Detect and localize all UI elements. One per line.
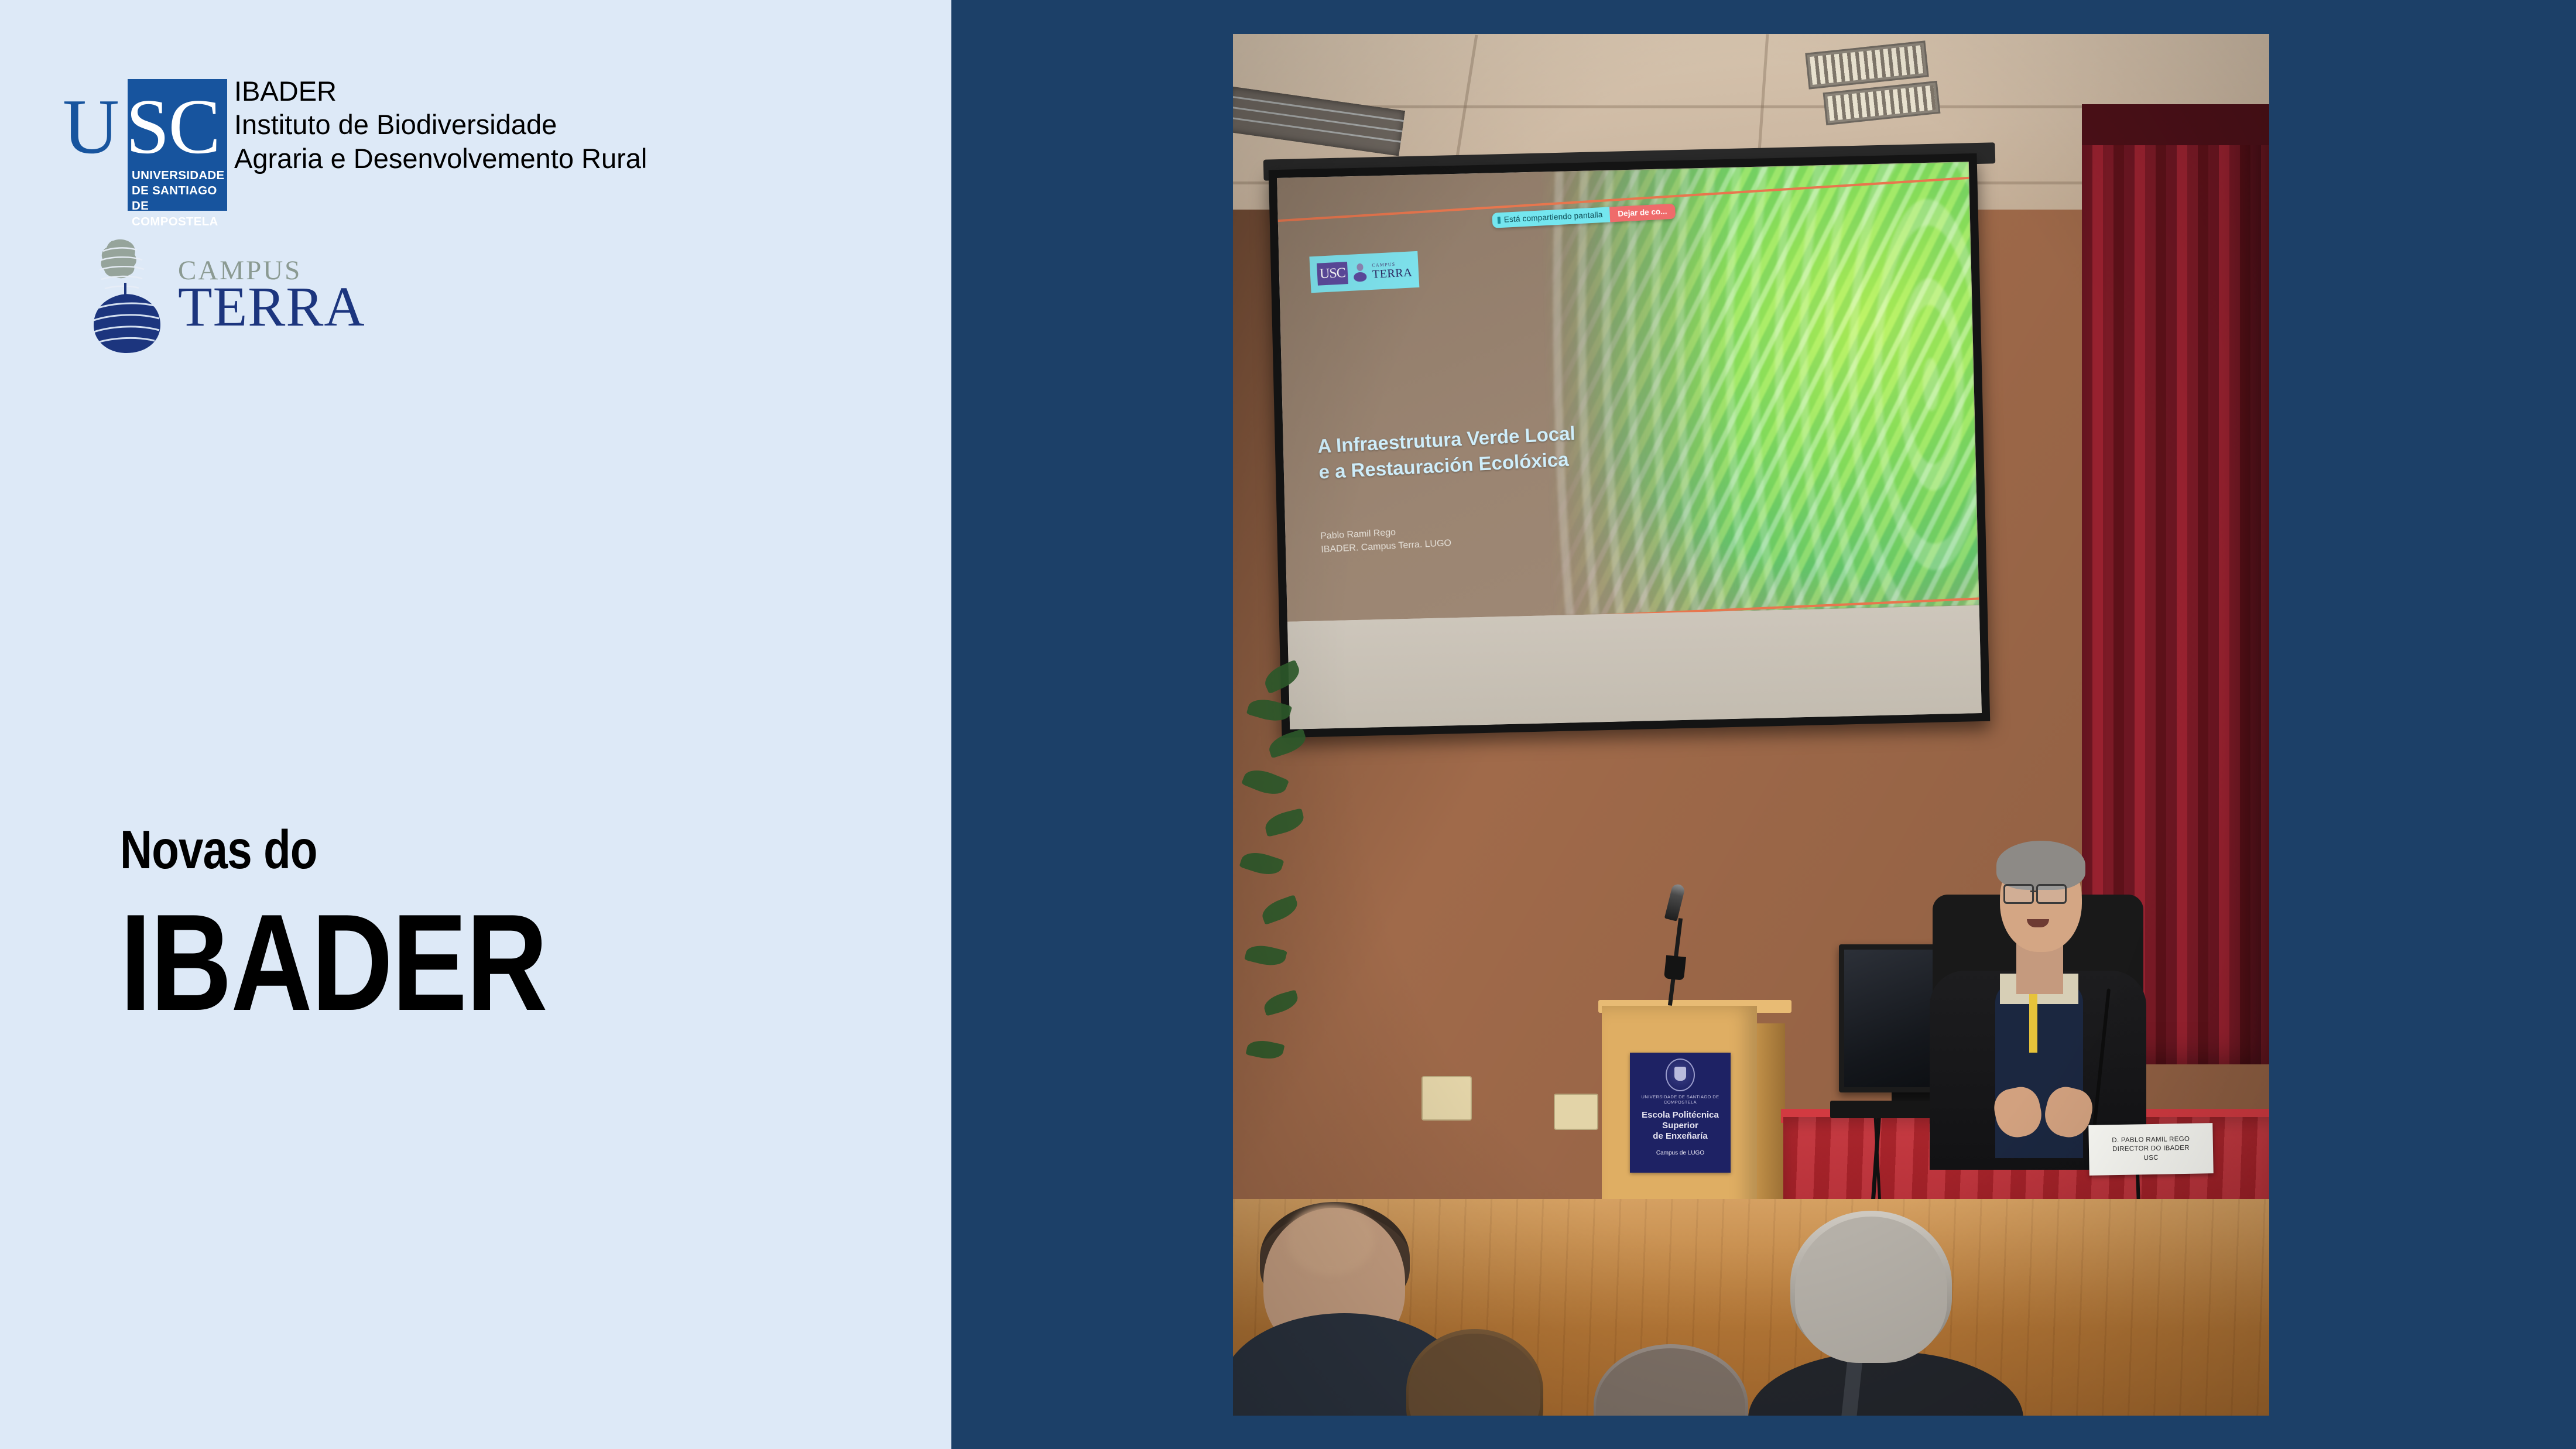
usc-sub-line-3: DE COMPOSTELA xyxy=(132,199,218,228)
glasses-icon xyxy=(2036,884,2067,904)
page-title: Novas do IBADER xyxy=(120,823,640,1031)
institute-name: IBADER Instituto de Biodiversidade Agrar… xyxy=(234,74,647,175)
name-card: D. PABLO RAMIL REGO DIRECTOR DO IBADER U… xyxy=(2088,1123,2213,1176)
glasses-icon xyxy=(2003,884,2034,904)
curtain-valance xyxy=(2082,104,2269,145)
slide-green-artwork-overlay xyxy=(1540,162,1979,615)
campus-terra-logo: CAMPUS TERRA xyxy=(88,237,365,354)
wall-socket-panel xyxy=(1421,1076,1472,1121)
speaker-person xyxy=(1912,795,2164,1170)
presentation-slide: Está compartiendo pantalla Dejar de co..… xyxy=(1277,162,1979,622)
left-panel: U SC UNIVERSIDADE DE SANTIAGO DE COMPOST… xyxy=(0,0,951,1449)
audience-scalp xyxy=(1287,1205,1375,1275)
plaque-university: UNIVERSIDADE DE SANTIAGO DE COMPOSTELA xyxy=(1630,1094,1731,1105)
slide-author: Pablo Ramil Rego IBADER. Campus Terra. L… xyxy=(1320,523,1452,557)
institute-line-3: Agraria e Desenvolvemento Rural xyxy=(234,142,647,175)
usc-crest-icon xyxy=(1666,1059,1695,1091)
slide-terra-word: TERRA xyxy=(1372,266,1413,280)
name-card-org: USC xyxy=(2144,1154,2159,1163)
event-photo: Está compartiendo pantalla Dejar de co..… xyxy=(1233,34,2269,1416)
usc-sub-line-1: UNIVERSIDADE xyxy=(132,169,225,182)
terra-tree-icon xyxy=(88,237,165,354)
audience-head xyxy=(1795,1217,1947,1363)
usc-logo-icon: U SC UNIVERSIDADE DE SANTIAGO DE COMPOST… xyxy=(66,79,227,211)
wall-socket-panel xyxy=(1554,1094,1598,1130)
usc-logo-block: U SC UNIVERSIDADE DE SANTIAGO DE COMPOST… xyxy=(66,79,647,211)
projection-screen: Está compartiendo pantalla Dejar de co..… xyxy=(1269,153,1991,738)
slide-usc-icon: USC xyxy=(1317,262,1348,286)
screen-blank-area xyxy=(1287,605,1982,729)
glasses-bridge xyxy=(2030,890,2036,892)
institute-line-1: IBADER xyxy=(234,74,647,108)
usc-letters-sc: SC xyxy=(126,87,220,166)
potted-plant xyxy=(1238,666,1325,1146)
institute-line-2: Instituto de Biodiversidade xyxy=(234,108,647,141)
name-card-role: DIRECTOR DO IBADER xyxy=(2112,1144,2190,1155)
podium-plaque: UNIVERSIDADE DE SANTIAGO DE COMPOSTELA E… xyxy=(1630,1053,1731,1173)
campus-terra-wordmark: CAMPUS TERRA xyxy=(178,257,365,335)
usc-letter-u: U xyxy=(63,87,118,166)
slide-logo-strip: USC CAMPUS TERRA xyxy=(1310,251,1420,293)
speaker-hair xyxy=(1996,841,2085,890)
slide-terra-wordmark: CAMPUS TERRA xyxy=(1372,261,1412,280)
plaque-school: Escola Politécnica Superior de Enxeñaría xyxy=(1630,1110,1731,1142)
poster-canvas: U SC UNIVERSIDADE DE SANTIAGO DE COMPOST… xyxy=(0,0,2576,1449)
terra-word: TERRA xyxy=(178,279,365,335)
slide-title: A Infraestrutura Verde Local e a Restaur… xyxy=(1317,420,1577,485)
headline-main: IBADER xyxy=(120,893,547,1031)
headline-eyebrow: Novas do xyxy=(120,823,547,877)
speaker-placket xyxy=(2029,988,2037,1053)
slide-terra-tree-icon xyxy=(1353,262,1367,282)
usc-logo-subtitle: UNIVERSIDADE DE SANTIAGO DE COMPOSTELA xyxy=(132,168,227,229)
screen-surface: Está compartiendo pantalla Dejar de co..… xyxy=(1277,162,1982,729)
usc-sub-line-2: DE SANTIAGO xyxy=(132,184,217,197)
plaque-campus: Campus de LUGO xyxy=(1630,1150,1731,1156)
microphone-clip xyxy=(1664,955,1686,980)
